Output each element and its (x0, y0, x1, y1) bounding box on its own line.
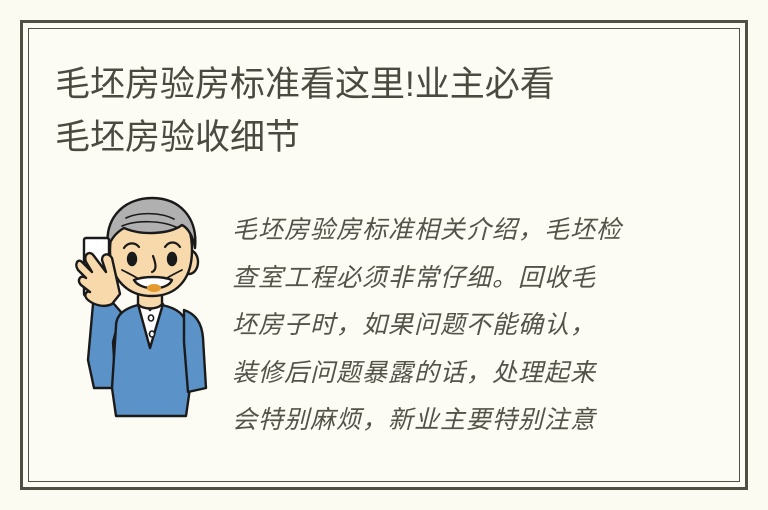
shirt-button-top (148, 315, 153, 321)
tongue (147, 284, 161, 292)
body-line: 查室工程必须非常仔细。回收毛 (232, 254, 664, 302)
body-line: 坯房子时，如果问题不能确认， (232, 301, 664, 349)
shirt-button-bottom (149, 331, 154, 337)
right-arm (184, 310, 206, 392)
left-eye (127, 252, 137, 266)
page-title: 毛坯房验房标准看这里!业主必看 毛坯房验收细节 (55, 58, 695, 164)
right-eye (167, 252, 177, 266)
elderly-man-on-phone-icon (64, 192, 224, 437)
content-row: 毛坯房验房标准相关介绍，毛坯检 查室工程必须非常仔细。回收毛 坯房子时，如果问题… (48, 192, 708, 442)
article-card: 毛坯房验房标准看这里!业主必看 毛坯房验收细节 (0, 0, 768, 510)
body-line: 会特别麻烦，新业主要特别注意 (232, 396, 664, 444)
article-body: 毛坯房验房标准相关介绍，毛坯检 查室工程必须非常仔细。回收毛 坯房子时，如果问题… (232, 206, 664, 444)
body-line: 毛坯房验房标准相关介绍，毛坯检 (232, 206, 664, 254)
body-line: 装修后问题暴露的话，处理起来 (232, 349, 664, 397)
title-line-2: 毛坯房验收细节 (55, 111, 695, 164)
elderly-man-on-phone-illustration (64, 192, 224, 437)
title-line-1: 毛坯房验房标准看这里!业主必看 (55, 58, 695, 111)
